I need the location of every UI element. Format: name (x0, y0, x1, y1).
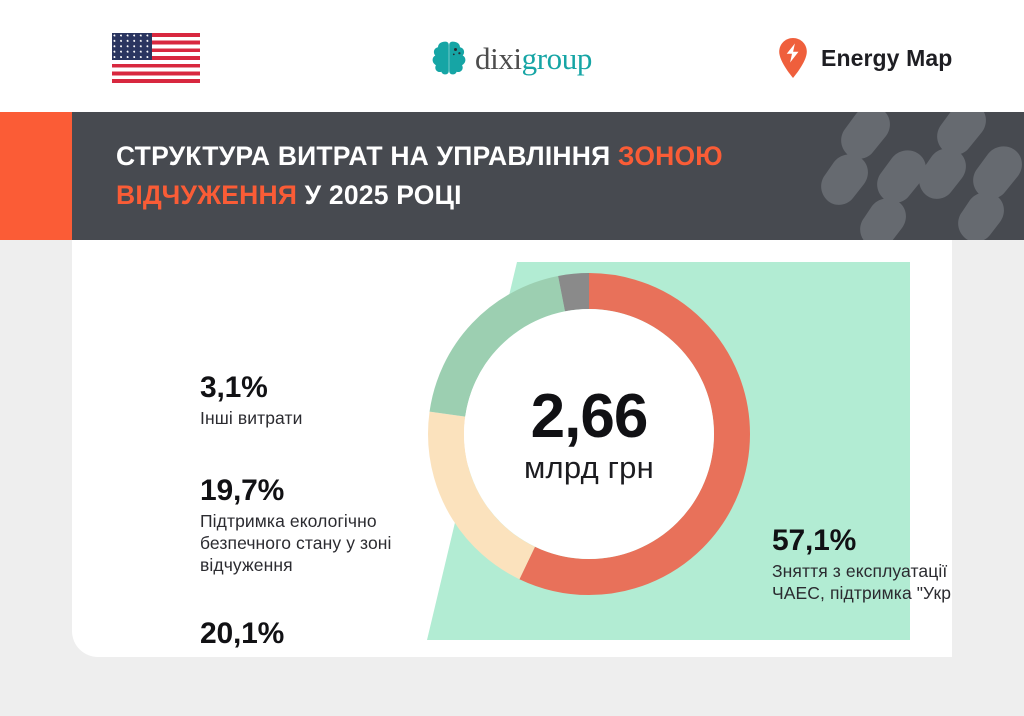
energy-map-logo[interactable]: Energy Map (778, 38, 952, 78)
donut-chart: 2,66 млрд грн (417, 262, 761, 606)
map-pin-bolt-icon (778, 38, 808, 78)
infographic-page: dixigroup Energy Map (0, 0, 1024, 716)
total-unit: млрд грн (524, 452, 654, 483)
group-text: group (522, 41, 592, 76)
legend-desc-waste: Поводження з радіоактивними відходами, б… (200, 653, 455, 657)
title-part-1: Структура витрат на управління (116, 141, 618, 171)
title-part-2: у 2025 році (297, 180, 462, 210)
title-banner: Структура витрат на управління зоною від… (72, 112, 1024, 240)
legend-item-radioactive-waste: 20,1% Поводження з радіоактивними відход… (200, 617, 455, 657)
energy-map-label: Energy Map (821, 45, 952, 72)
legend-desc-eco: Підтримка екологічно безпечного стану у … (200, 510, 445, 576)
total-value: 2,66 (531, 386, 648, 448)
legend-percent-waste: 20,1% (200, 617, 455, 650)
legend-desc-other: Інші витрати (200, 407, 450, 429)
dixi-text: dixi (475, 41, 522, 76)
page-title: Структура витрат на управління зоною від… (116, 137, 816, 214)
us-flag-icon (112, 33, 200, 83)
legend-desc-decom: Зняття з експлуатації ЧАЕС, підтримка "У… (772, 560, 952, 604)
dixigroup-brain-icon (432, 40, 466, 76)
flag-stars (112, 33, 152, 60)
legend-item-decommissioning: 57,1% Зняття з експлуатації ЧАЕС, підтри… (772, 524, 952, 604)
donut-center-label: 2,66 млрд грн (417, 262, 761, 606)
orange-accent-block (0, 112, 72, 240)
legend-item-other-costs: 3,1% Інші витрати (200, 371, 450, 429)
legend-percent-other: 3,1% (200, 371, 450, 404)
legend-percent-eco: 19,7% (200, 474, 445, 507)
legend-percent-decom: 57,1% (772, 524, 952, 557)
dixigroup-logo[interactable]: dixigroup (432, 40, 592, 76)
dixigroup-wordmark: dixigroup (475, 43, 592, 74)
legend-item-ecological-safety: 19,7% Підтримка екологічно безпечного ст… (200, 474, 445, 576)
logo-header: dixigroup Energy Map (0, 0, 1024, 112)
decorative-logo-shape-banner (820, 112, 1024, 240)
